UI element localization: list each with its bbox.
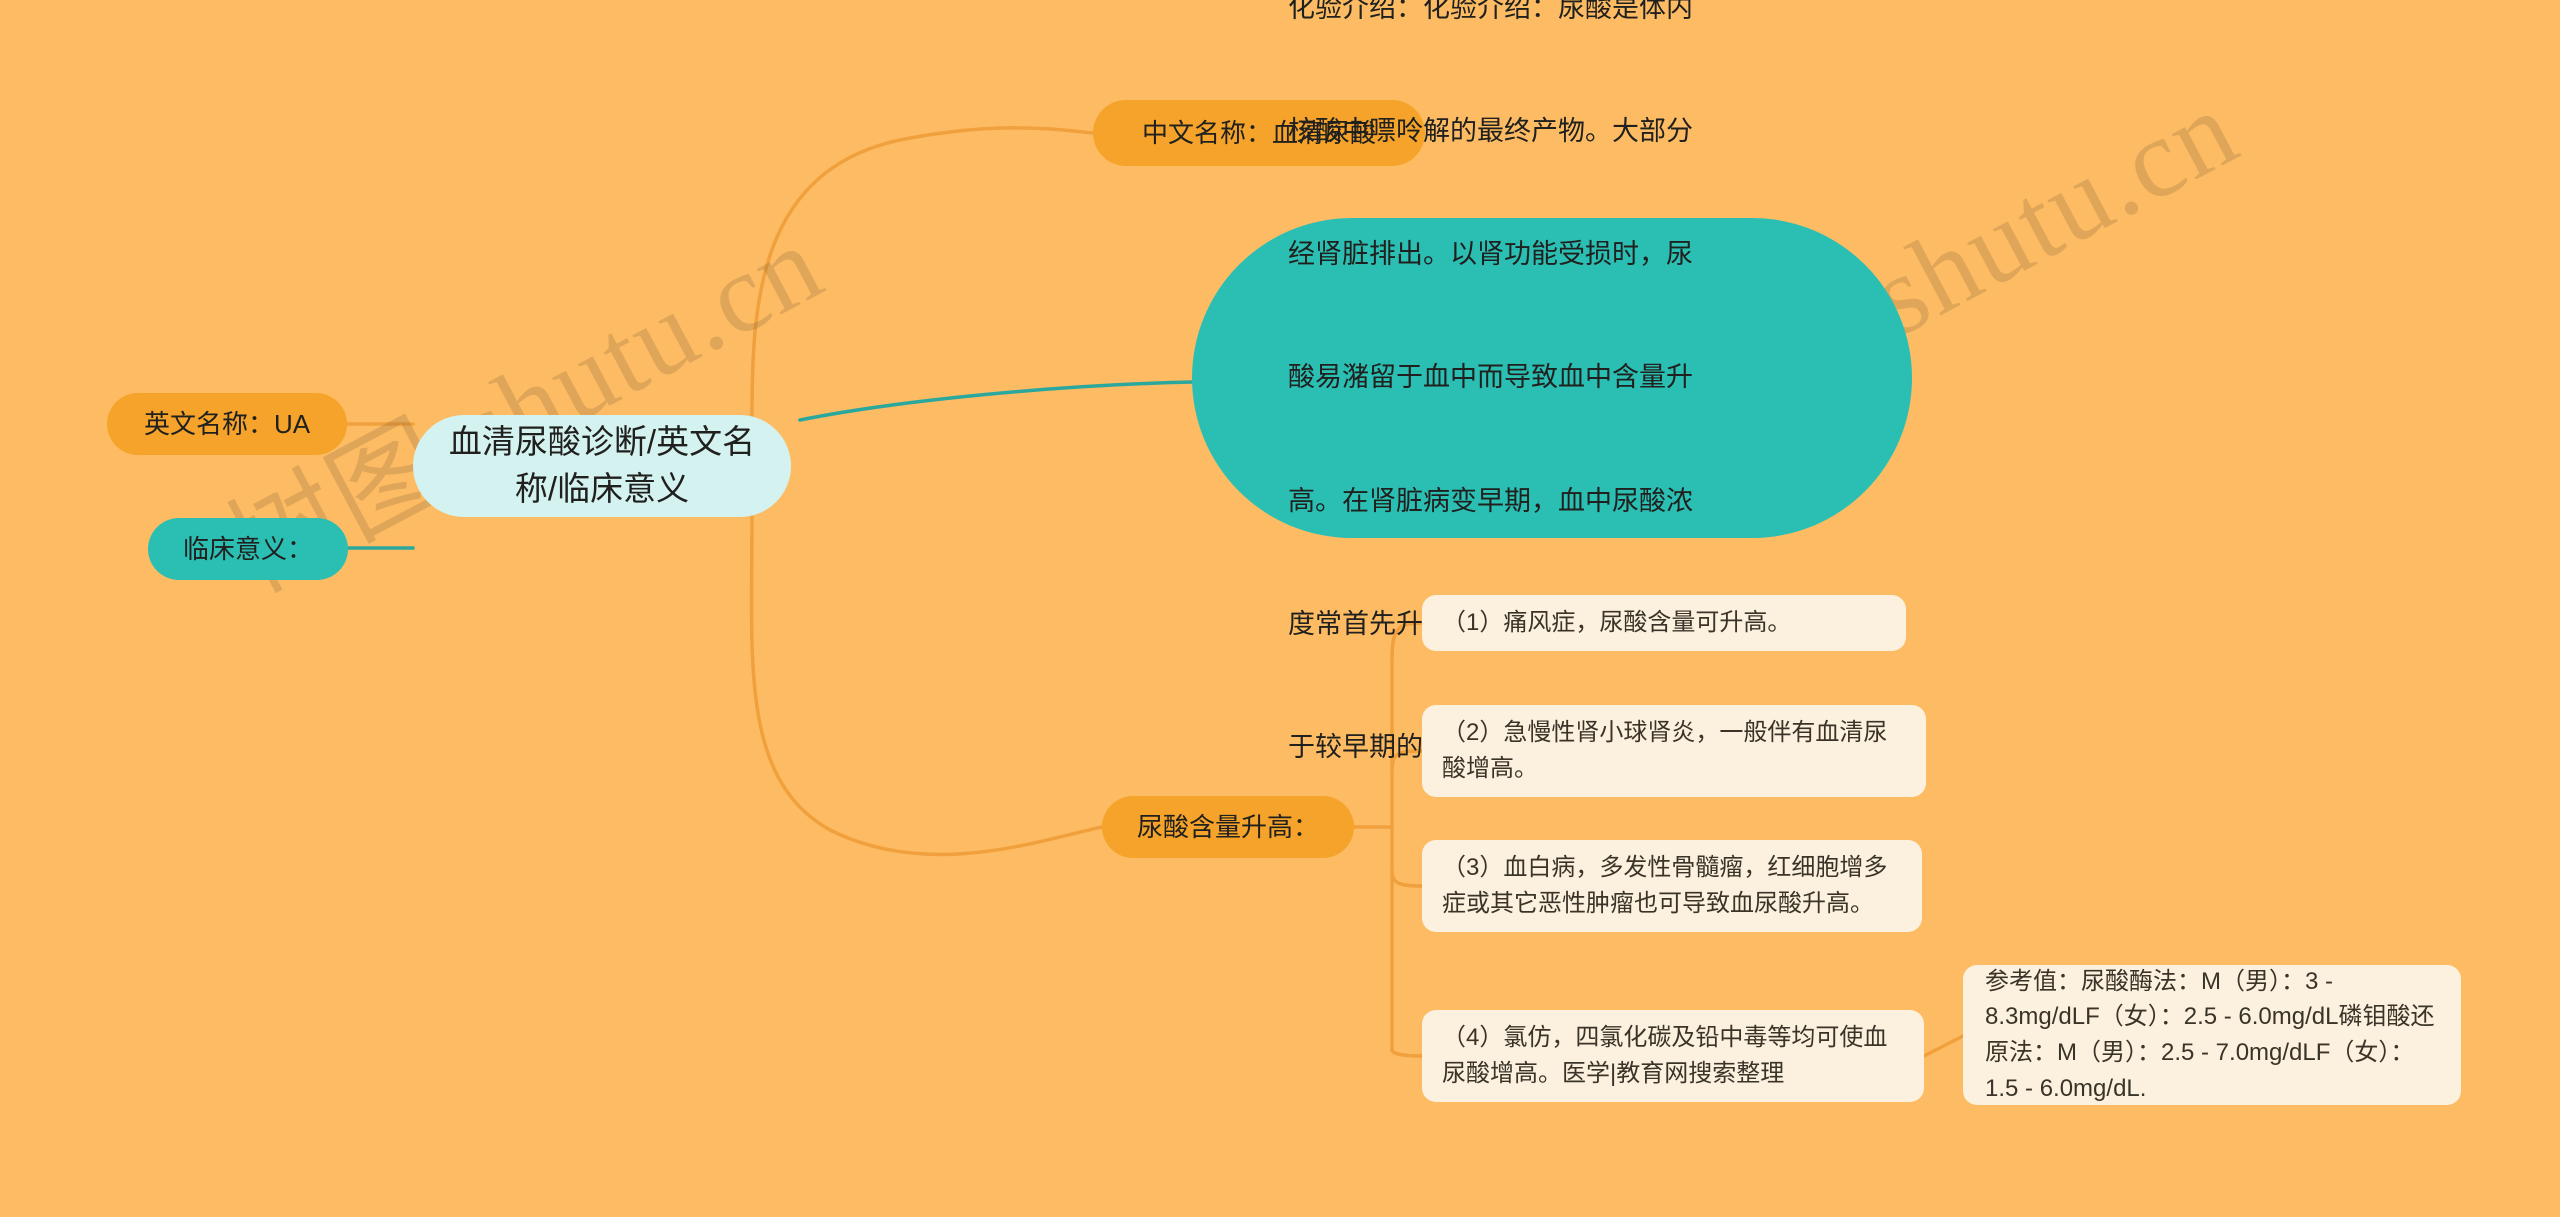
- mindmap-canvas: 树图 shutu.cn 树图 shutu.cn 血清尿酸诊断/英文名称/临床意义…: [0, 0, 2560, 1217]
- root-node[interactable]: 血清尿酸诊断/英文名称/临床意义: [413, 415, 791, 517]
- reference-value-label: 参考值：尿酸酶法：M（男）：3 - 8.3mg/dLF（女）：2.5 - 6.0…: [1985, 964, 2439, 1106]
- branch-english-name-label: 英文名称：UA: [144, 406, 310, 443]
- description-line: 酸易潴留于血中而导致血中含量升: [1288, 357, 1693, 398]
- leaf-item-1[interactable]: （1）痛风症，尿酸含量可升高。: [1422, 595, 1906, 651]
- leaf-item-2-label: （2）急慢性肾小球肾炎，一般伴有血清尿酸增高。: [1442, 715, 1906, 786]
- reference-value-node[interactable]: 参考值：尿酸酶法：M（男）：3 - 8.3mg/dLF（女）：2.5 - 6.0…: [1963, 965, 2461, 1105]
- leaf-item-2[interactable]: （2）急慢性肾小球肾炎，一般伴有血清尿酸增高。: [1422, 705, 1926, 797]
- link-root-to-cn-name: [752, 128, 1093, 415]
- description-line: 高。在肾脏病变早期，血中尿酸浓: [1288, 481, 1693, 522]
- branch-clinical-significance-label: 临床意义：: [183, 531, 313, 568]
- leaf-item-4[interactable]: （4）氯仿，四氯化碳及铅中毒等均可使血尿酸增高。医学|教育网搜索整理: [1422, 1010, 1924, 1102]
- root-node-label: 血清尿酸诊断/英文名称/临床意义: [443, 419, 761, 513]
- leaf-item-3[interactable]: （3）血白病，多发性骨髓瘤，红细胞增多症或其它恶性肿瘤也可导致血尿酸升高。: [1422, 840, 1922, 932]
- link-spine-leaf-3: [1392, 870, 1422, 886]
- link-leaf4-to-reference: [1924, 1036, 1963, 1056]
- leaf-item-1-label: （1）痛风症，尿酸含量可升高。: [1442, 605, 1791, 641]
- link-root-to-description: [800, 382, 1192, 420]
- link-root-to-ua-high: [751, 517, 1102, 854]
- branch-english-name[interactable]: 英文名称：UA: [107, 393, 347, 455]
- description-line: 经肾脏排出。以肾功能受损时，尿: [1288, 234, 1693, 275]
- description-line: 核酸中嘌呤解的最终产物。大部分: [1288, 111, 1693, 152]
- branch-clinical-significance[interactable]: 临床意义：: [148, 518, 348, 580]
- leaf-item-4-label: （4）氯仿，四氯化碳及铅中毒等均可使血尿酸增高。医学|教育网搜索整理: [1442, 1020, 1904, 1091]
- description-line: 化验介绍：化验介绍：尿酸是体内: [1288, 0, 1693, 29]
- link-spine-leaf-4: [1392, 1050, 1422, 1056]
- description-node[interactable]: 化验介绍：化验介绍：尿酸是体内 核酸中嘌呤解的最终产物。大部分 经肾脏排出。以肾…: [1192, 218, 1912, 538]
- leaf-item-3-label: （3）血白病，多发性骨髓瘤，红细胞增多症或其它恶性肿瘤也可导致血尿酸升高。: [1442, 850, 1902, 921]
